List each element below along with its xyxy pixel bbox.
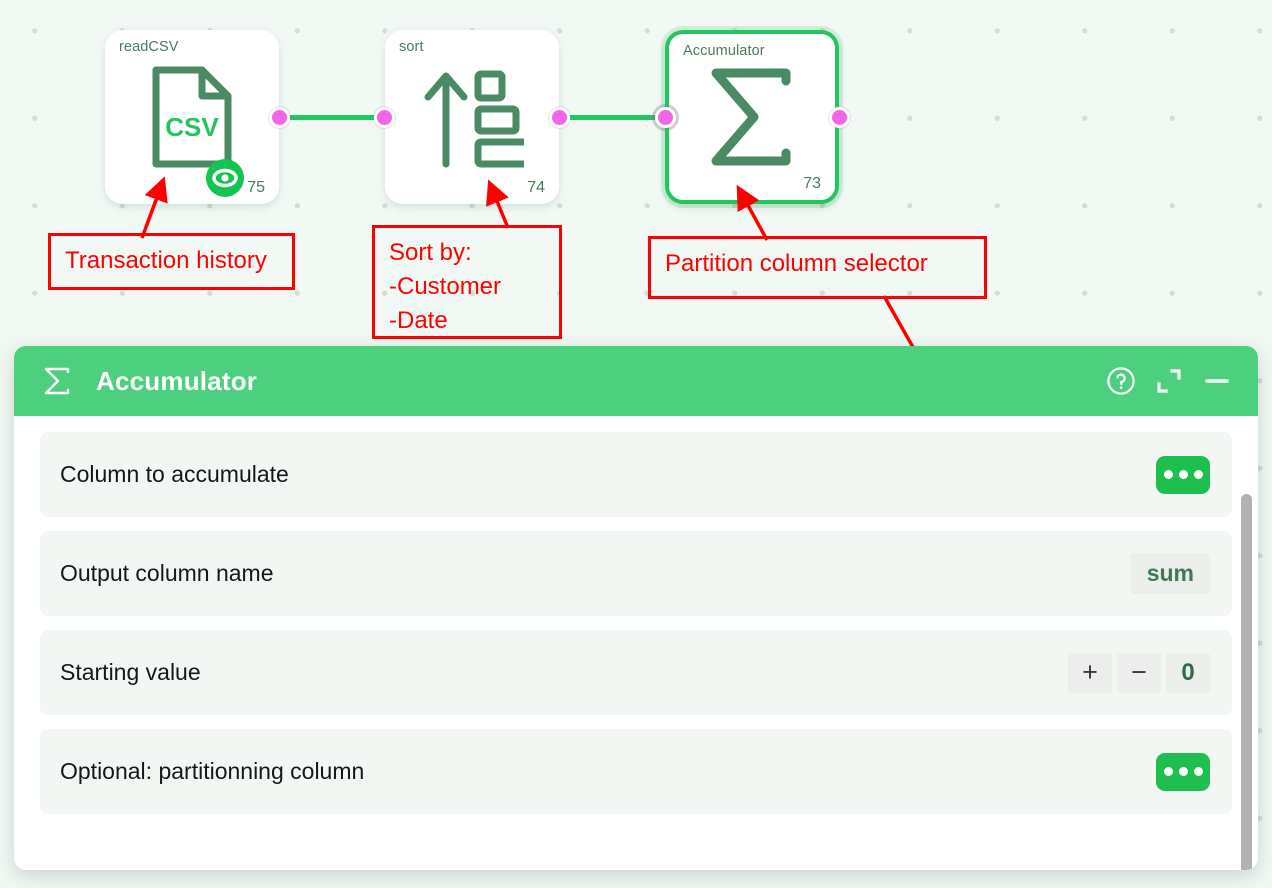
increment-button[interactable]: + (1068, 653, 1112, 693)
preview-eye-icon[interactable] (205, 158, 245, 203)
row-label: Column to accumulate (60, 461, 289, 488)
row-label: Optional: partitionning column (60, 758, 364, 785)
csv-file-icon: CSV (105, 30, 279, 204)
partitionning-column-selector-button[interactable] (1156, 753, 1210, 791)
row-label: Output column name (60, 560, 274, 587)
sort-ascending-icon (385, 30, 559, 204)
accumulator-config-panel[interactable]: Accumulator (14, 346, 1258, 870)
dot (1179, 767, 1188, 776)
expand-icon[interactable] (1150, 362, 1188, 400)
node-readcsv-number: 75 (247, 179, 265, 197)
svg-text:CSV: CSV (165, 112, 219, 142)
port-accumulator-input[interactable] (655, 107, 676, 128)
help-icon[interactable] (1102, 362, 1140, 400)
dot (1164, 470, 1173, 479)
panel-header: Accumulator (14, 346, 1258, 416)
decrement-button[interactable]: − (1117, 653, 1161, 693)
dot (1179, 470, 1188, 479)
node-accumulator-number: 73 (803, 175, 821, 193)
dot (1164, 767, 1173, 776)
port-sort-input[interactable] (374, 107, 395, 128)
row-output-column-name[interactable]: Output column name sum (40, 531, 1232, 616)
output-column-name-value[interactable]: sum (1131, 553, 1210, 594)
panel-scrollbar[interactable] (1241, 494, 1252, 870)
node-sort[interactable]: sort 74 (385, 30, 559, 204)
row-starting-value[interactable]: Starting value + − 0 (40, 630, 1232, 715)
panel-body: Column to accumulate Output column name … (14, 416, 1258, 870)
column-to-accumulate-selector-button[interactable] (1156, 456, 1210, 494)
scrollbar-thumb[interactable] (1241, 494, 1252, 870)
node-sort-number: 74 (527, 179, 545, 197)
minimize-icon[interactable] (1198, 362, 1236, 400)
transaction-history-note: Transaction history (48, 233, 295, 290)
port-sort-output[interactable] (549, 107, 570, 128)
row-column-to-accumulate[interactable]: Column to accumulate (40, 432, 1232, 517)
panel-title: Accumulator (96, 366, 257, 397)
wire-sort-to-accumulator (566, 115, 668, 120)
sort-by-note: Sort by: -Customer -Date (372, 225, 562, 339)
workflow-canvas[interactable]: readCSV CSV 75 sort (0, 0, 1272, 888)
dot (1194, 470, 1203, 479)
partition-column-selector-note: Partition column selector (648, 236, 987, 299)
row-label: Starting value (60, 659, 201, 686)
sigma-icon (40, 364, 74, 398)
wire-readcsv-to-sort (286, 115, 388, 120)
row-partitionning-column[interactable]: Optional: partitionning column (40, 729, 1232, 814)
node-readcsv[interactable]: readCSV CSV 75 (105, 30, 279, 204)
starting-value-field[interactable]: 0 (1166, 653, 1210, 693)
starting-value-stepper[interactable]: + − 0 (1063, 653, 1210, 693)
node-accumulator[interactable]: Accumulator 73 (665, 30, 839, 204)
port-accumulator-output[interactable] (829, 107, 850, 128)
dot (1194, 767, 1203, 776)
port-readcsv-output[interactable] (269, 107, 290, 128)
